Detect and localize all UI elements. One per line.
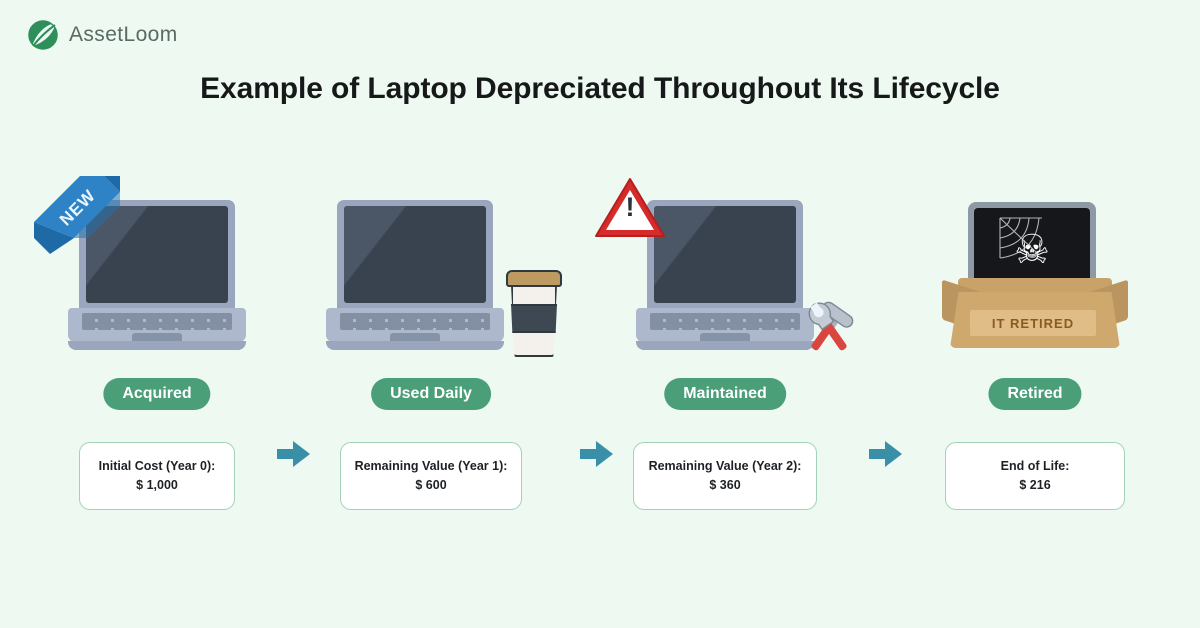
value-card-acquired: Initial Cost (Year 0): $ 1,000 bbox=[79, 442, 235, 510]
laptop-trackpad bbox=[700, 333, 750, 345]
laptop-screen bbox=[344, 206, 486, 303]
card-title: Remaining Value (Year 1): bbox=[355, 457, 508, 476]
stage-badge-maintained: Maintained bbox=[664, 378, 786, 410]
laptop-illustration bbox=[326, 200, 504, 350]
value-card-retired: End of Life: $ 216 bbox=[945, 442, 1125, 510]
arrow-used-to-maintained-icon bbox=[580, 439, 614, 469]
lifecycle-stages: NEW Acquired Initial Cost (Year 0): $ 1,… bbox=[0, 170, 1200, 550]
page-title: Example of Laptop Depreciated Throughout… bbox=[0, 72, 1200, 106]
cobweb-icon bbox=[998, 216, 1044, 260]
laptop-trackpad bbox=[132, 333, 182, 345]
card-value: $ 216 bbox=[1019, 476, 1050, 495]
cup-lid bbox=[506, 270, 562, 287]
leaf-circle-logo-icon bbox=[26, 18, 60, 52]
laptop-base bbox=[326, 308, 504, 342]
stage-acquired: NEW Acquired Initial Cost (Year 0): $ 1,… bbox=[22, 170, 292, 540]
card-title: Initial Cost (Year 0): bbox=[99, 457, 216, 476]
laptop-lid bbox=[337, 200, 493, 310]
laptop-new-icon: NEW bbox=[22, 170, 292, 360]
laptop-lid bbox=[647, 200, 803, 310]
stage-badge-acquired: Acquired bbox=[103, 378, 210, 410]
brand-logo: AssetLoom bbox=[26, 18, 178, 52]
arrow-maintained-to-retired-icon bbox=[869, 439, 903, 469]
stage-used-daily: Used Daily Remaining Value (Year 1): $ 6… bbox=[296, 170, 566, 540]
stage-maintained: ! Ma bbox=[590, 170, 860, 540]
laptop-keyboard bbox=[340, 313, 490, 330]
brand-name: AssetLoom bbox=[69, 23, 178, 47]
laptop-screen bbox=[654, 206, 796, 303]
card-value: $ 360 bbox=[709, 476, 740, 495]
warning-triangle-icon: ! bbox=[594, 176, 666, 240]
retired-box-laptop-icon: ☠ bbox=[900, 170, 1170, 360]
card-value: $ 600 bbox=[415, 476, 446, 495]
hammer-wrench-icon bbox=[798, 296, 860, 358]
laptop-keyboard bbox=[650, 313, 800, 330]
laptop-keyboard bbox=[82, 313, 232, 330]
stage-retired: ☠ bbox=[900, 170, 1170, 540]
coffee-cup-icon bbox=[508, 270, 560, 358]
box-label: IT RETIRED bbox=[970, 310, 1096, 336]
laptop-screen bbox=[86, 206, 228, 303]
cup-sleeve bbox=[511, 304, 557, 333]
value-card-used-daily: Remaining Value (Year 1): $ 600 bbox=[340, 442, 522, 510]
laptop-warning-tools-icon: ! bbox=[590, 170, 860, 360]
laptop-base bbox=[68, 308, 246, 342]
arrow-acquired-to-used-icon bbox=[277, 439, 311, 469]
laptop-trackpad bbox=[390, 333, 440, 345]
laptop-lid bbox=[79, 200, 235, 310]
stage-badge-used-daily: Used Daily bbox=[371, 378, 491, 410]
laptop-coffee-icon bbox=[296, 170, 566, 360]
card-value: $ 1,000 bbox=[136, 476, 178, 495]
laptop-base bbox=[636, 308, 814, 342]
retired-illustration: ☠ bbox=[942, 192, 1128, 354]
card-title: Remaining Value (Year 2): bbox=[649, 457, 802, 476]
stage-badge-retired: Retired bbox=[988, 378, 1081, 410]
laptop-illustration bbox=[68, 200, 246, 350]
value-card-maintained: Remaining Value (Year 2): $ 360 bbox=[633, 442, 817, 510]
card-title: End of Life: bbox=[1001, 457, 1070, 476]
warning-exclamation-label: ! bbox=[594, 194, 666, 221]
